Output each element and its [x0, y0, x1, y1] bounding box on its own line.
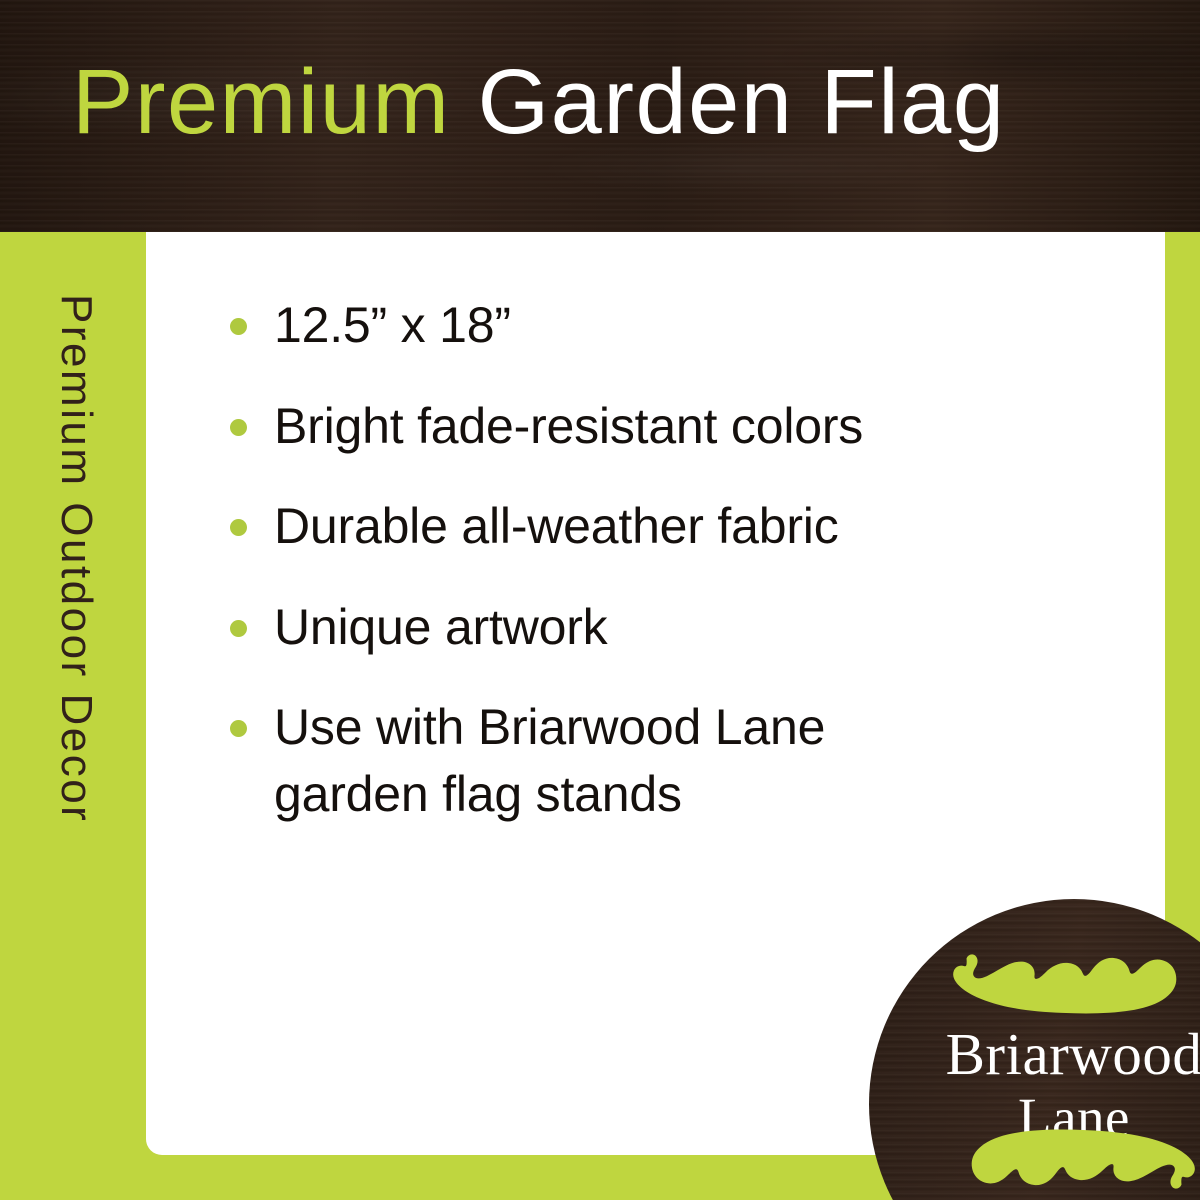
feature-item-label: Durable all-weather fabric	[274, 498, 839, 554]
brand-name-main: Briarwood	[869, 1025, 1200, 1084]
feature-item-label: 12.5” x 18”	[274, 297, 511, 353]
feature-item: Use with Briarwood Lane garden flag stan…	[226, 694, 986, 827]
feature-item-label: Use with Briarwood Lane garden flag stan…	[274, 699, 825, 822]
page-title-main: Garden Flag	[451, 51, 1006, 153]
page-title-accent: Premium	[72, 51, 451, 153]
feature-item: Durable all-weather fabric	[226, 493, 986, 560]
bullet-dot-icon	[230, 519, 247, 536]
feature-item: Unique artwork	[226, 594, 986, 661]
feature-list: 12.5” x 18” Bright fade-resistant colors…	[226, 292, 986, 827]
product-infographic: Premium Garden Flag Premium Outdoor Deco…	[0, 0, 1200, 1200]
feature-item-label: Unique artwork	[274, 599, 607, 655]
page-title: Premium Garden Flag	[72, 56, 1006, 148]
feature-item: Bright fade-resistant colors	[226, 393, 986, 460]
oak-leaf-icon	[940, 952, 1200, 1030]
feature-item: 12.5” x 18”	[226, 292, 986, 359]
oak-leaf-icon	[940, 1113, 1200, 1191]
bullet-dot-icon	[230, 620, 247, 637]
bullet-dot-icon	[230, 318, 247, 335]
header-banner: Premium Garden Flag	[0, 0, 1200, 232]
left-accent-panel	[0, 232, 146, 1200]
bullet-dot-icon	[230, 720, 247, 737]
bullet-dot-icon	[230, 419, 247, 436]
feature-item-label: Bright fade-resistant colors	[274, 398, 863, 454]
